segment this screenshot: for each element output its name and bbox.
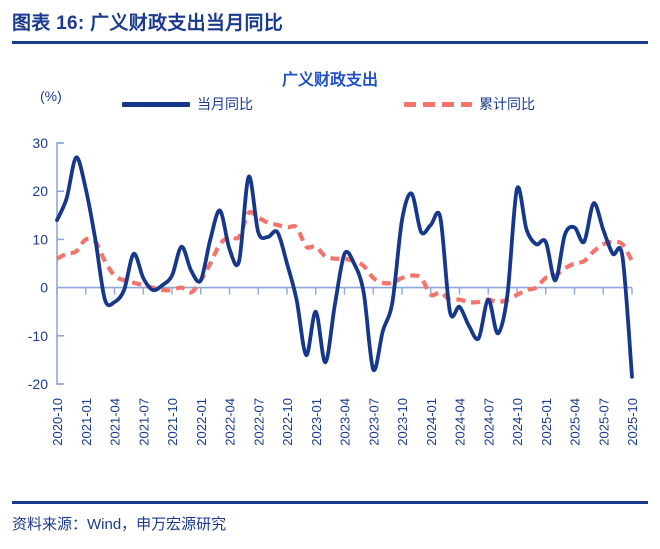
header-divider	[12, 41, 648, 44]
x-axis-tick-label: 2021-07	[136, 398, 151, 446]
y-axis-tick-label: 30	[32, 135, 48, 151]
x-axis-labels: 2020-102021-012021-042021-072021-102022-…	[50, 398, 640, 446]
x-axis-tick-label: 2023-10	[395, 398, 410, 446]
x-axis-tick-label: 2024-07	[481, 398, 496, 446]
y-axis-tick-label: 10	[32, 231, 48, 247]
x-axis-tick-label: 2022-04	[223, 398, 238, 446]
page-title: 图表 16: 广义财政支出当月同比	[12, 8, 283, 35]
y-axis-tick-label: -20	[28, 376, 48, 392]
footer-divider	[12, 501, 648, 504]
y-axis-tick-label: -10	[28, 328, 48, 344]
y-axis-tick-label: 20	[32, 183, 48, 199]
x-axis-tick-label: 2025-07	[596, 398, 611, 446]
x-axis-tick-label: 2023-04	[338, 398, 353, 446]
x-axis-tick-label: 2022-10	[280, 398, 295, 446]
figure-footer: 资料来源：Wind，申万宏源研究	[0, 501, 660, 549]
chart-plot-area: 2020-102021-012021-042021-072021-102022-…	[0, 46, 660, 501]
x-axis-tick-label: 2021-01	[79, 398, 94, 446]
figure-header: 图表 16: 广义财政支出当月同比	[0, 0, 660, 46]
y-axis-tick-label: 0	[40, 280, 48, 296]
y-axis-labels: 3020100-10-20	[28, 135, 48, 392]
x-axis-tick-label: 2024-01	[424, 398, 439, 446]
x-axis-tick-label: 2020-10	[50, 398, 65, 446]
x-axis-tick-label: 2025-04	[568, 398, 583, 446]
x-axis-tick-label: 2021-10	[165, 398, 180, 446]
source-note: 资料来源：Wind，申万宏源研究	[12, 513, 226, 534]
x-axis-tick-label: 2025-10	[625, 398, 640, 446]
x-axis-tick-label: 2023-07	[366, 398, 381, 446]
axis-layer	[57, 143, 632, 384]
x-axis-tick-label: 2022-01	[194, 398, 209, 446]
x-axis-tick-label: 2025-01	[539, 398, 554, 446]
series-layer	[57, 157, 632, 376]
chart-card: 广义财政支出 当月同比 累计同比 (%) 2020-102021-012021-…	[0, 46, 660, 501]
x-axis-tick-label: 2022-07	[251, 398, 266, 446]
x-axis-tick-label: 2023-01	[309, 398, 324, 446]
x-axis-tick-label: 2024-10	[510, 398, 525, 446]
x-axis-tick-label: 2021-04	[108, 398, 123, 446]
x-axis-tick-label: 2024-04	[453, 398, 468, 446]
data-series-line	[57, 157, 632, 376]
